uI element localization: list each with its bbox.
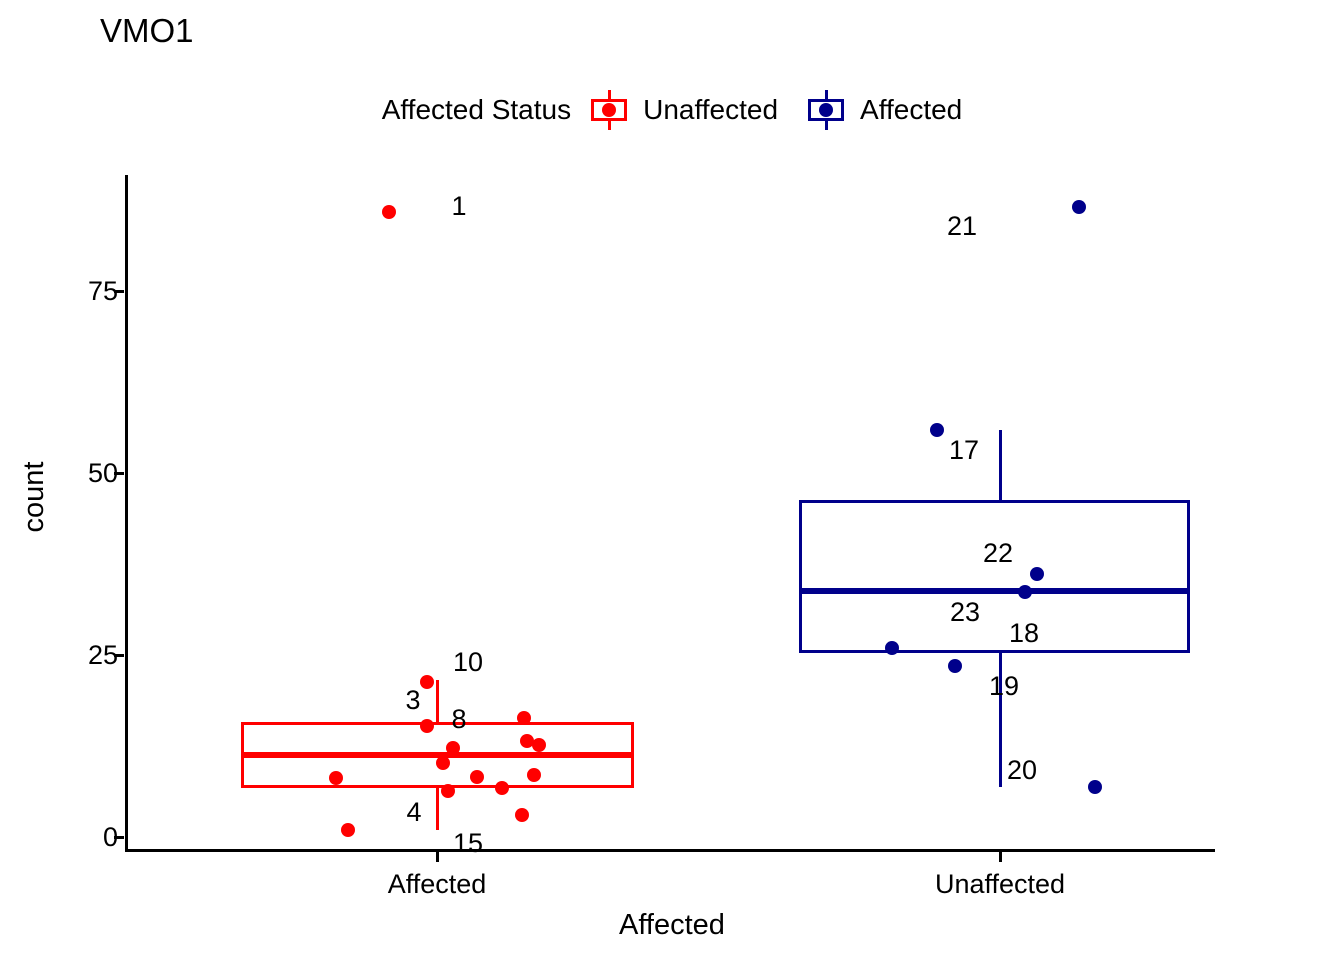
data-point <box>382 205 396 219</box>
y-axis-tick-label: 0 <box>103 822 118 852</box>
y-axis-title: count <box>17 427 51 567</box>
chart-canvas: VMO1 Affected Status Unaffected Affected… <box>0 0 1344 960</box>
legend-item-affected[interactable]: Affected <box>804 88 962 132</box>
data-point <box>517 711 531 725</box>
data-point <box>436 756 450 770</box>
page-title: VMO1 <box>100 12 194 50</box>
data-point <box>441 784 455 798</box>
x-axis-title: Affected <box>0 908 1344 942</box>
data-point-label: 18 <box>1009 618 1039 648</box>
data-point-label: 22 <box>983 538 1013 568</box>
data-point-label: 1 <box>451 191 466 221</box>
data-point <box>420 719 434 733</box>
boxplot-affected-whisker-lower <box>436 788 439 830</box>
boxplot-unaffected-median-line <box>799 588 1190 594</box>
y-axis-tick-label: 75 <box>88 276 118 306</box>
data-point <box>329 771 343 785</box>
data-point-label: 21 <box>947 211 977 241</box>
boxplot-affected-whisker-upper <box>436 680 439 722</box>
data-point-label: 19 <box>989 671 1019 701</box>
data-point <box>1030 567 1044 581</box>
x-axis-tick <box>999 852 1002 862</box>
data-point <box>930 423 944 437</box>
data-point-label: 17 <box>949 435 979 465</box>
data-point <box>527 768 541 782</box>
legend-label-affected: Affected <box>860 94 962 126</box>
data-point-label: 15 <box>453 828 483 858</box>
x-axis-tick <box>436 852 439 862</box>
data-point-label: 3 <box>405 685 420 715</box>
x-axis-line <box>125 849 1215 852</box>
data-point <box>470 770 484 784</box>
y-axis-tick-label: 50 <box>88 458 118 488</box>
data-point <box>1088 780 1102 794</box>
data-point <box>446 741 460 755</box>
data-point <box>495 781 509 795</box>
data-point <box>1018 585 1032 599</box>
y-axis-line <box>125 175 128 850</box>
data-point <box>341 823 355 837</box>
x-axis-tick-label-unaffected: Unaffected <box>935 868 1065 900</box>
data-point-label: 10 <box>453 647 483 677</box>
data-point-label: 23 <box>950 597 980 627</box>
data-point <box>885 641 899 655</box>
legend-title: Affected Status <box>382 94 571 126</box>
data-point <box>1072 200 1086 214</box>
boxplot-key-icon <box>587 88 631 132</box>
x-axis-tick-label-affected: Affected <box>388 868 487 900</box>
data-point-label: 20 <box>1007 755 1037 785</box>
legend-label-unaffected: Unaffected <box>643 94 778 126</box>
boxplot-key-icon <box>804 88 848 132</box>
legend-item-unaffected[interactable]: Unaffected <box>587 88 778 132</box>
data-point <box>515 808 529 822</box>
data-point <box>948 659 962 673</box>
data-point <box>420 675 434 689</box>
data-point <box>532 738 546 752</box>
legend: Affected Status Unaffected Affected <box>0 88 1344 132</box>
data-point-label: 4 <box>406 797 421 827</box>
data-point-label: 8 <box>451 704 466 734</box>
y-axis-tick-label: 25 <box>88 640 118 670</box>
boxplot-unaffected-box <box>799 500 1190 653</box>
boxplot-unaffected-whisker-upper <box>999 430 1002 500</box>
